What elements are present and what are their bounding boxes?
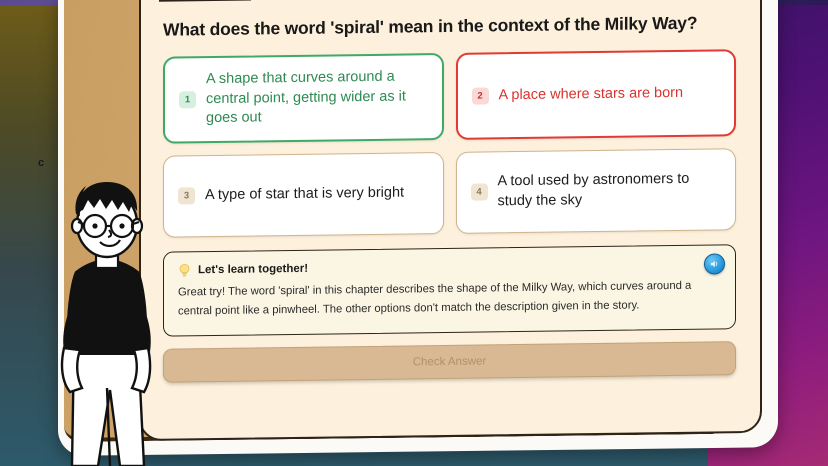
option-2[interactable]: 2 A place where stars are born xyxy=(456,49,737,139)
explanation-body: Great try! The word 'spiral' in this cha… xyxy=(178,276,719,322)
option-3-number: 3 xyxy=(178,187,195,204)
option-4-number: 4 xyxy=(471,184,488,201)
speaker-icon[interactable] xyxy=(704,253,725,274)
option-4-label: A tool used by astronomers to study the … xyxy=(498,170,722,212)
lightbulb-icon xyxy=(178,263,191,278)
explanation-panel: Let's learn together! Great try! The wor… xyxy=(163,244,736,336)
option-1-number: 1 xyxy=(179,91,196,108)
check-answer-button[interactable]: Check Answer xyxy=(163,341,736,383)
quiz-card-tab xyxy=(159,0,251,2)
option-1[interactable]: 1 A shape that curves around a central p… xyxy=(163,53,444,143)
options-grid: 1 A shape that curves around a central p… xyxy=(163,49,736,237)
explanation-title: Let's learn together! xyxy=(198,263,308,276)
option-4[interactable]: 4 A tool used by astronomers to study th… xyxy=(456,148,737,234)
option-3-label: A type of star that is very bright xyxy=(205,183,404,205)
option-1-label: A shape that curves around a central poi… xyxy=(206,67,428,129)
quiz-card: What does the word 'spiral' mean in the … xyxy=(139,0,762,441)
speaker-glyph xyxy=(709,258,720,269)
option-3[interactable]: 3 A type of star that is very bright xyxy=(163,152,444,238)
option-2-label: A place where stars are born xyxy=(499,83,684,105)
student-avatar xyxy=(52,176,160,466)
option-2-number: 2 xyxy=(472,87,489,104)
corner-mark: c xyxy=(38,157,44,169)
explanation-header: Let's learn together! xyxy=(178,256,719,278)
question-title: What does the word 'spiral' mean in the … xyxy=(163,12,736,41)
